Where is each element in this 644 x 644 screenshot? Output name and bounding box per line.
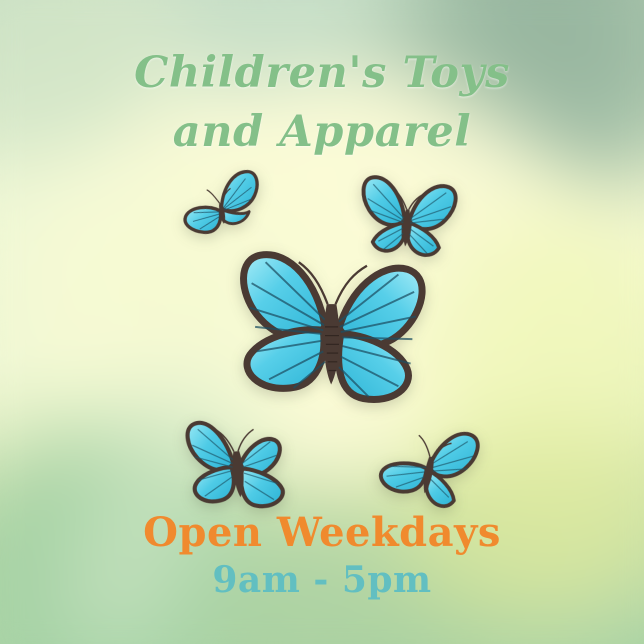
butterfly-medium-bottom-left xyxy=(173,406,301,522)
poster-hours: Open Weekdays 9am - 5pm xyxy=(0,510,644,602)
poster-title: Children's Toys and Apparel xyxy=(0,44,644,162)
butterfly-large-center xyxy=(226,243,438,409)
hours-headline: Open Weekdays xyxy=(0,510,644,556)
title-line-1: Children's Toys xyxy=(0,44,644,103)
butterfly-small-top-left xyxy=(167,165,273,254)
hours-times: 9am - 5pm xyxy=(0,558,644,602)
butterfly-medium-bottom-right xyxy=(364,409,491,525)
poster-canvas: Children's Toys and Apparel xyxy=(0,0,644,644)
title-line-2: and Apparel xyxy=(0,103,644,162)
